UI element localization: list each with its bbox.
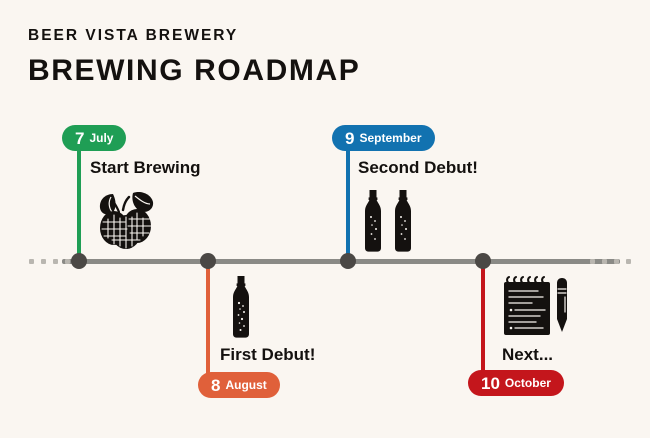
milestone-month: October	[505, 377, 551, 389]
milestone-month: September	[359, 132, 421, 144]
milestone-title-september: Second Debut!	[358, 159, 478, 176]
milestone-month: July	[89, 132, 113, 144]
roadmap-infographic: BEER VISTA BREWERY BREWING ROADMAP 7 Jul…	[0, 0, 650, 438]
notepad-and-pen-icon	[502, 276, 576, 341]
milestone-stem-october	[481, 261, 485, 379]
milestone-node-september[interactable]	[340, 253, 356, 269]
milestone-badge-august[interactable]: 8 August	[198, 372, 280, 398]
milestone-title-august: First Debut!	[220, 346, 315, 363]
milestone-stem-august	[206, 261, 210, 379]
dash-mark	[602, 259, 607, 264]
timeline-right-dashes	[590, 259, 631, 264]
header-block: BEER VISTA BREWERY BREWING ROADMAP	[28, 28, 360, 86]
milestone-badge-september[interactable]: 9 September	[332, 125, 435, 151]
milestone-node-october[interactable]	[475, 253, 491, 269]
hop-cone-icon	[93, 188, 159, 255]
milestone-badge-july[interactable]: 7 July	[62, 125, 126, 151]
dash-mark	[29, 259, 34, 264]
milestone-month: August	[225, 379, 266, 391]
dash-mark	[614, 259, 619, 264]
beer-bottle-icon	[228, 276, 254, 343]
milestone-day: 9	[345, 130, 354, 147]
milestone-stem-july	[77, 136, 81, 260]
milestone-title-july: Start Brewing	[90, 159, 201, 176]
milestone-day: 10	[481, 375, 500, 392]
dash-mark	[590, 259, 595, 264]
page-title: BREWING ROADMAP	[28, 56, 360, 86]
milestone-badge-october[interactable]: 10 October	[468, 370, 564, 396]
milestone-title-october: Next...	[502, 346, 553, 363]
dash-mark	[626, 259, 631, 264]
milestone-day: 7	[75, 130, 84, 147]
milestone-node-august[interactable]	[200, 253, 216, 269]
two-beer-bottles-icon	[362, 190, 420, 257]
milestone-day: 8	[211, 377, 220, 394]
brand-eyebrow: BEER VISTA BREWERY	[28, 28, 360, 44]
milestone-node-july[interactable]	[71, 253, 87, 269]
dash-mark	[65, 259, 70, 264]
dash-mark	[53, 259, 58, 264]
dash-mark	[41, 259, 46, 264]
timeline-left-dashes	[29, 259, 70, 264]
milestone-stem-september	[346, 136, 350, 260]
